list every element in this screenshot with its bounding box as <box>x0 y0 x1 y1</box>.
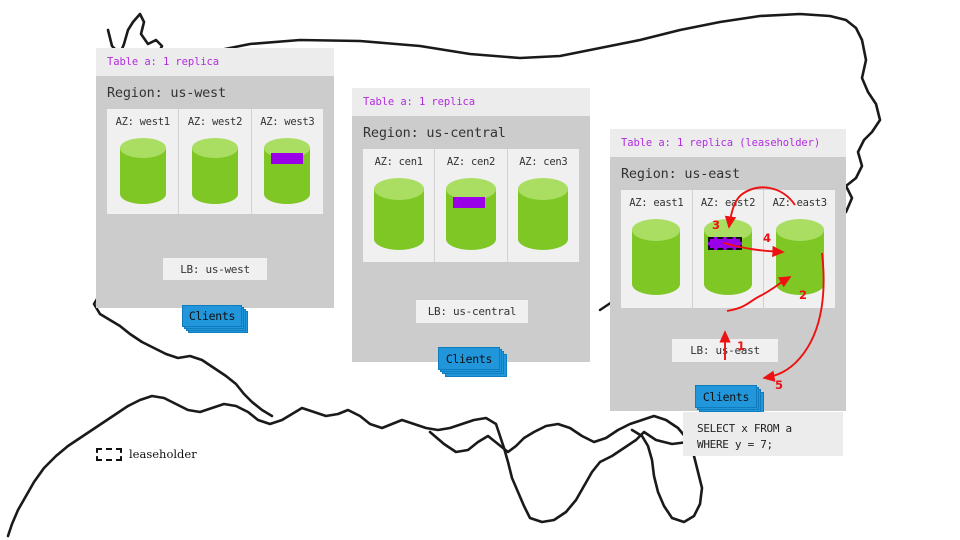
arrow-number-5: 5 <box>775 378 783 392</box>
az-label-east2: AZ: east2 <box>693 197 764 209</box>
region-title-us-central: Region: us-central <box>352 116 590 149</box>
node-cylinder-cen2[interactable] <box>445 177 497 251</box>
clients-us-east[interactable]: Clients <box>695 385 767 415</box>
sql-query-box: SELECT x FROM a WHERE y = 7; <box>683 412 843 456</box>
az-cell-cen2[interactable]: AZ: cen2 <box>434 149 506 262</box>
clients-label-us-central[interactable]: Clients <box>438 347 500 370</box>
panel-header-us-west: Table a: 1 replica <box>96 48 334 76</box>
panel-header-us-east: Table a: 1 replica (leaseholder) <box>610 129 846 157</box>
node-cylinder-west3[interactable] <box>263 137 311 205</box>
az-label-cen2: AZ: cen2 <box>435 156 506 168</box>
region-panel-us-east: Table a: 1 replica (leaseholder) Region:… <box>610 129 846 411</box>
replica-bar-cen2[interactable] <box>453 197 485 208</box>
panel-body-us-west: Region: us-west AZ: west1 AZ: west2 <box>96 76 334 308</box>
az-label-west2: AZ: west2 <box>179 116 250 128</box>
az-cell-cen1[interactable]: AZ: cen1 <box>363 149 434 262</box>
az-cell-west2[interactable]: AZ: west2 <box>178 109 250 214</box>
az-cell-west1[interactable]: AZ: west1 <box>107 109 178 214</box>
clients-us-central[interactable]: Clients <box>438 347 510 377</box>
sql-query-text: SELECT x FROM a WHERE y = 7; <box>697 422 792 451</box>
az-cell-east2[interactable]: AZ: east2 <box>692 190 764 308</box>
az-label-west3: AZ: west3 <box>252 116 323 128</box>
load-balancer-label-us-east: LB: us-east <box>690 344 760 357</box>
node-cylinder-west1[interactable] <box>119 137 167 205</box>
region-title-us-east: Region: us-east <box>610 157 846 190</box>
leaseholder-swatch-icon <box>96 448 122 461</box>
load-balancer-label-us-west: LB: us-west <box>180 263 250 276</box>
az-cell-west3[interactable]: AZ: west3 <box>251 109 323 214</box>
replica-bar-west3[interactable] <box>271 153 303 164</box>
az-cell-cen3[interactable]: AZ: cen3 <box>507 149 579 262</box>
node-cylinder-east3[interactable] <box>775 218 825 296</box>
az-label-west1: AZ: west1 <box>107 116 178 128</box>
panel-body-us-east: Region: us-east AZ: east1 AZ: east2 <box>610 157 846 411</box>
region-title-us-west: Region: us-west <box>96 76 334 109</box>
az-row-us-central: AZ: cen1 AZ: cen2 <box>363 149 579 262</box>
arrow-number-1: 1 <box>737 339 745 353</box>
node-cylinder-west2[interactable] <box>191 137 239 205</box>
az-cell-east1[interactable]: AZ: east1 <box>621 190 692 308</box>
load-balancer-us-east[interactable]: LB: us-east <box>672 339 778 362</box>
arrow-number-3: 3 <box>712 218 720 232</box>
load-balancer-us-west[interactable]: LB: us-west <box>163 258 267 280</box>
az-label-cen1: AZ: cen1 <box>363 156 434 168</box>
node-cylinder-east1[interactable] <box>631 218 681 296</box>
az-label-east1: AZ: east1 <box>621 197 692 209</box>
legend-label-leaseholder: leaseholder <box>129 447 197 461</box>
panel-body-us-central: Region: us-central AZ: cen1 AZ: cen2 <box>352 116 590 362</box>
legend: leaseholder <box>96 447 197 461</box>
clients-us-west[interactable]: Clients <box>182 305 252 333</box>
node-cylinder-cen1[interactable] <box>373 177 425 251</box>
node-cylinder-east2[interactable] <box>703 218 753 296</box>
az-label-east3: AZ: east3 <box>764 197 835 209</box>
diagram-canvas: Table a: 1 replica Region: us-west AZ: w… <box>0 0 960 540</box>
az-label-cen3: AZ: cen3 <box>508 156 579 168</box>
clients-label-us-west[interactable]: Clients <box>182 305 242 327</box>
load-balancer-us-central[interactable]: LB: us-central <box>416 300 528 323</box>
region-panel-us-west: Table a: 1 replica Region: us-west AZ: w… <box>96 48 334 308</box>
panel-header-us-central: Table a: 1 replica <box>352 88 590 116</box>
node-cylinder-cen3[interactable] <box>517 177 569 251</box>
arrow-number-4: 4 <box>763 231 771 245</box>
replica-bar-leaseholder-east2[interactable] <box>708 237 742 250</box>
region-panel-us-central: Table a: 1 replica Region: us-central AZ… <box>352 88 590 362</box>
az-row-us-west: AZ: west1 AZ: west2 <box>107 109 323 214</box>
clients-label-us-east[interactable]: Clients <box>695 385 757 408</box>
arrow-number-2: 2 <box>799 288 807 302</box>
load-balancer-label-us-central: LB: us-central <box>428 305 517 318</box>
